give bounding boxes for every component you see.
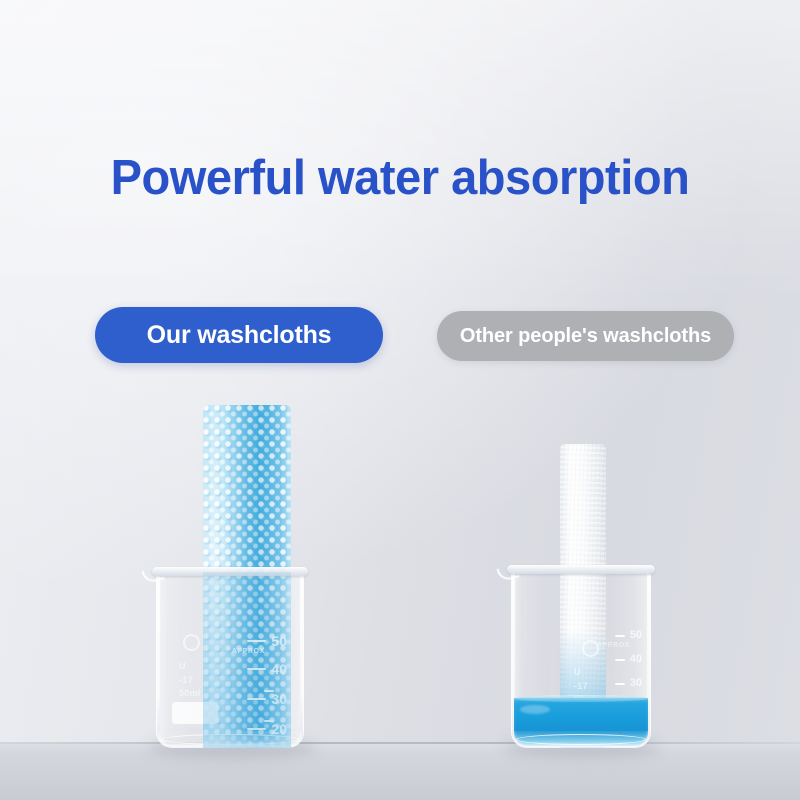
table-surface-edge	[0, 742, 800, 744]
graduation-50: 50	[615, 630, 642, 641]
graduation-label: 40	[271, 662, 287, 676]
graduation-tick	[615, 659, 625, 661]
graduation-label: 50	[271, 634, 287, 648]
left-beaker: U-1750ml 50 APPROX 40 0	[156, 572, 304, 748]
label-other-peoples-washcloths[interactable]: Other people's washcloths	[437, 311, 734, 361]
graduation-50: 50	[247, 634, 287, 648]
graduation-tick	[615, 635, 625, 637]
graduation-label: 50	[630, 630, 642, 641]
left-beaker-glass: U-1750ml 50 APPROX 40 0	[156, 572, 304, 748]
right-beaker-glass: U-1750ml 50 APPROX 40 30 20	[511, 570, 651, 748]
label-our-washcloths[interactable]: Our washcloths	[95, 307, 383, 363]
graduation-tick	[247, 668, 266, 670]
left-beaker-sticker	[172, 702, 218, 724]
graduation-label: 30	[271, 692, 287, 706]
graduation-label: 40	[630, 654, 642, 665]
graduation-40: 40	[615, 654, 642, 665]
left-beaker-print: U-1750ml	[179, 660, 201, 701]
graduation-tick	[247, 640, 266, 642]
graduation-approx-note: APPROX	[597, 642, 630, 649]
graduation-30: 30	[615, 678, 642, 689]
left-beaker-logo-icon	[183, 634, 200, 651]
graduation-label: 30	[630, 678, 642, 689]
graduation-approx-note: APPROX	[232, 648, 265, 655]
graduation-tick	[247, 698, 266, 700]
left-beaker-wall-right	[300, 572, 303, 747]
left-beaker-wall-left	[157, 572, 160, 747]
graduation-tick	[615, 683, 625, 685]
right-beaker: U-1750ml 50 APPROX 40 30 20	[511, 570, 651, 748]
liquid-surface	[514, 695, 648, 702]
graduation-40: 40	[247, 662, 287, 676]
left-beaker-base-ring	[161, 734, 299, 745]
graduation-30: 30	[247, 692, 287, 706]
right-beaker-rim	[507, 565, 655, 574]
product-comparison-scene: Powerful water absorption Our washcloths…	[0, 0, 800, 800]
right-beaker-base-ring	[516, 734, 646, 745]
table-surface	[0, 742, 800, 800]
left-beaker-rim	[152, 567, 308, 576]
page-title: Powerful water absorption	[16, 150, 784, 206]
left-beaker-graduations: 50 APPROX 40 0 30 0	[213, 572, 287, 747]
liquid-highlight	[520, 705, 550, 714]
graduation-tick	[247, 728, 266, 730]
